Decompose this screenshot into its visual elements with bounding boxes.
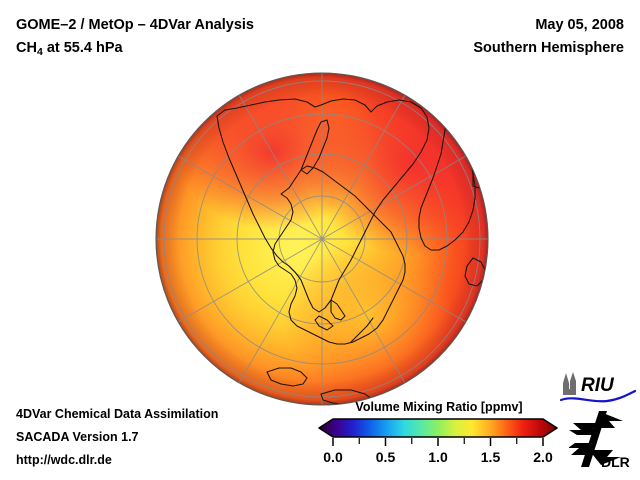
species-label: CH xyxy=(16,40,37,56)
dlr-wordmark: DLR xyxy=(601,454,630,470)
colorbar-major-ticks xyxy=(333,438,543,446)
region-label: Southern Hemisphere xyxy=(473,37,624,60)
colorbar-tick-label-1: 0.5 xyxy=(376,449,396,465)
colorbar-gradient-bar xyxy=(319,419,557,437)
polar-globe-map xyxy=(155,72,489,406)
species-level: at 55.4 hPa xyxy=(43,40,123,56)
footer-line-2: SACADA Version 1.7 xyxy=(16,426,218,449)
colorbar-tick-label-3: 1.5 xyxy=(481,449,501,465)
footer-url[interactable]: http://wdc.dlr.de xyxy=(16,449,218,472)
colorbar-tick-label-2: 1.0 xyxy=(428,449,448,465)
riu-logo-svg: RIU xyxy=(559,371,637,405)
colorbar-tick-label-0: 0.0 xyxy=(323,449,343,465)
footer-left: 4DVar Chemical Data Assimilation SACADA … xyxy=(16,403,218,472)
cathedral-spires-icon xyxy=(563,372,576,395)
riu-logo: RIU xyxy=(559,371,637,405)
page-title: GOME–2 / MetOp – 4DVar Analysis xyxy=(16,14,254,37)
footer-line-1: 4DVar Chemical Data Assimilation xyxy=(16,403,218,426)
colorbar-title: Volume Mixing Ratio [ppmv] xyxy=(316,400,562,414)
header-left: GOME–2 / MetOp – 4DVar Analysis CH4 at 5… xyxy=(16,14,254,64)
dlr-logo: DLR xyxy=(569,409,639,471)
colorbar-svg: 0.0 0.5 1.0 1.5 2.0 xyxy=(316,417,562,472)
species-line: CH4 at 55.4 hPa xyxy=(16,37,254,64)
globe-svg xyxy=(155,72,489,406)
colorbar-graphic: 0.0 0.5 1.0 1.5 2.0 xyxy=(316,417,562,477)
dlr-logo-svg: DLR xyxy=(569,409,639,471)
colorbar-tick-label-4: 2.0 xyxy=(533,449,553,465)
colorbar: Volume Mixing Ratio [ppmv] xyxy=(316,400,562,472)
riu-wordmark: RIU xyxy=(581,375,615,396)
date-label: May 05, 2008 xyxy=(473,14,624,37)
header-right: May 05, 2008 Southern Hemisphere xyxy=(473,14,624,60)
south-pole-marker xyxy=(320,237,324,241)
